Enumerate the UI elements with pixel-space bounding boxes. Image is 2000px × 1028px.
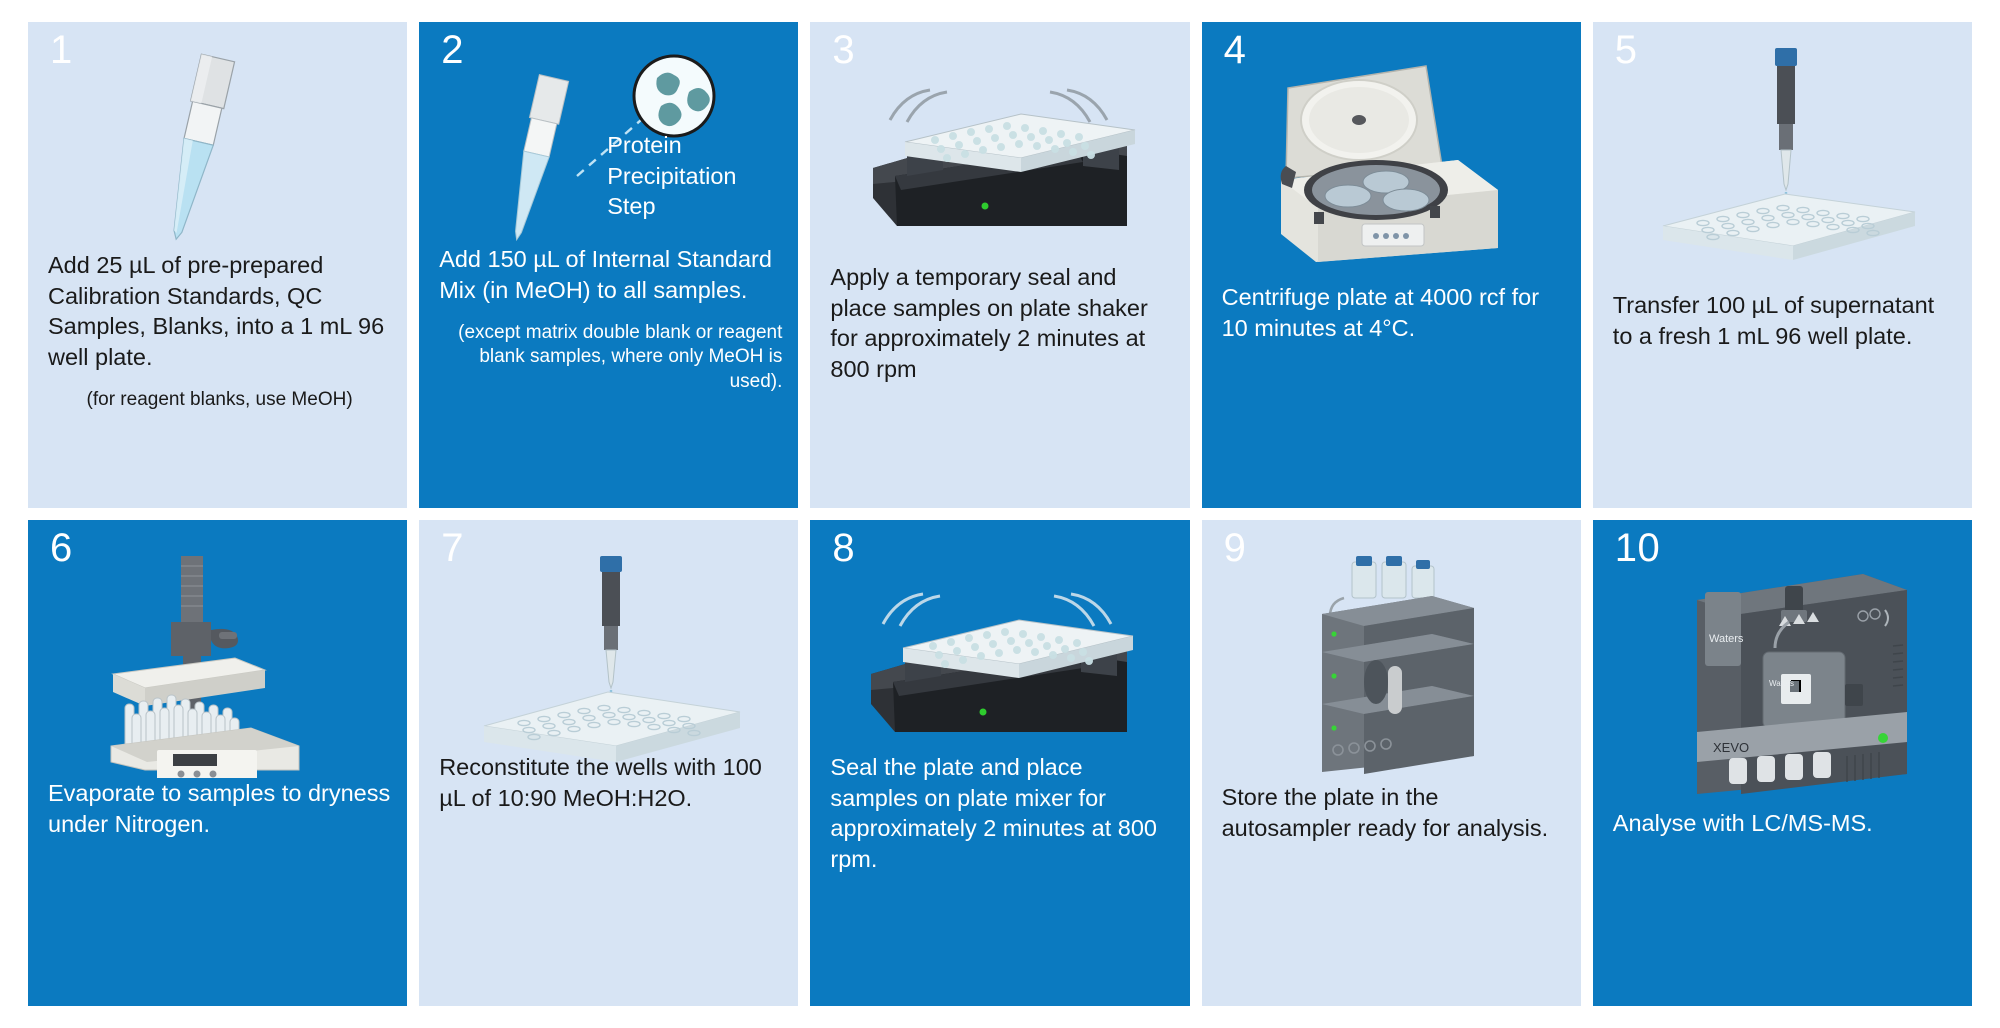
- workflow-step-2: 2 Add 150 µL of Internal Standard Mix (i…: [419, 22, 798, 508]
- workflow-step-3: 3: [810, 22, 1189, 508]
- step-description: Add 150 µL of Internal Standard Mix (in …: [439, 244, 782, 394]
- workflow-step-6: 6: [28, 520, 407, 1006]
- step-text: Add 25 µL of pre-prepared Calibration St…: [48, 252, 384, 370]
- centrifuge-icon: [1202, 48, 1581, 263]
- instrument-brand-label: Waters: [1709, 633, 1744, 645]
- workflow-step-1: 1 Add 25 µL of pre-prepared Calibration …: [28, 22, 407, 508]
- step-text: Centrifuge plate at 4000 rcf for 10 minu…: [1222, 284, 1539, 341]
- plate-mixer-icon: [810, 556, 1189, 776]
- lc-system-icon: [1202, 556, 1581, 786]
- workflow-step-8: 8: [810, 520, 1189, 1006]
- step-description: Seal the plate and place samples on plat…: [830, 752, 1173, 890]
- step-text: Store the plate in the autosampler ready…: [1222, 784, 1549, 841]
- plate-shaker-icon: [810, 48, 1189, 263]
- pipette-over-plate-icon: [419, 556, 798, 776]
- step-text: Add 150 µL of Internal Standard Mix (in …: [439, 246, 772, 303]
- workflow-step-7: 7: [419, 520, 798, 1006]
- step-description: Centrifuge plate at 4000 rcf for 10 minu…: [1222, 282, 1565, 359]
- step-description: Evaporate to samples to dryness under Ni…: [48, 778, 391, 855]
- workflow-step-4: 4: [1202, 22, 1581, 508]
- protein-precipitation-callout-label: Protein Precipitation Step: [607, 130, 757, 222]
- step-note: (except matrix double blank or reagent b…: [439, 321, 782, 394]
- step-description: Transfer 100 µL of supernatant to a fres…: [1613, 290, 1956, 367]
- svg-text:Waters: Waters: [1769, 679, 1794, 688]
- workflow-step-10: 10 Waters Waters: [1593, 520, 1972, 1006]
- workflow-step-9: 9: [1202, 520, 1581, 1006]
- step-text: Evaporate to samples to dryness under Ni…: [48, 780, 390, 837]
- mass-spectrometer-icon: Waters Waters: [1593, 556, 1972, 806]
- step-text: Reconstitute the wells with 100 µL of 10…: [439, 754, 762, 811]
- step-description: Analyse with LC/MS-MS.: [1613, 808, 1956, 855]
- step-description: Store the plate in the autosampler ready…: [1222, 782, 1565, 859]
- workflow-grid: 1 Add 25 µL of pre-prepared Calibration …: [28, 22, 1972, 1006]
- step-text: Transfer 100 µL of supernatant to a fres…: [1613, 292, 1934, 349]
- step-text: Apply a temporary seal and place samples…: [830, 264, 1147, 382]
- step-text: Analyse with LC/MS-MS.: [1613, 810, 1873, 836]
- step-note: (for reagent blanks, use MeOH): [48, 388, 391, 412]
- pipette-over-plate-icon: [1593, 48, 1972, 263]
- step-description: Apply a temporary seal and place samples…: [830, 262, 1173, 400]
- instrument-model-label: XEVO: [1713, 740, 1749, 755]
- step-description: Reconstitute the wells with 100 µL of 10…: [439, 752, 782, 829]
- nitrogen-evaporator-icon: [28, 556, 407, 776]
- workflow-step-5: 5: [1593, 22, 1972, 508]
- step-text: Seal the plate and place samples on plat…: [830, 754, 1157, 872]
- step-description: Add 25 µL of pre-prepared Calibration St…: [48, 250, 391, 413]
- pipette-tip-icon: [28, 48, 407, 263]
